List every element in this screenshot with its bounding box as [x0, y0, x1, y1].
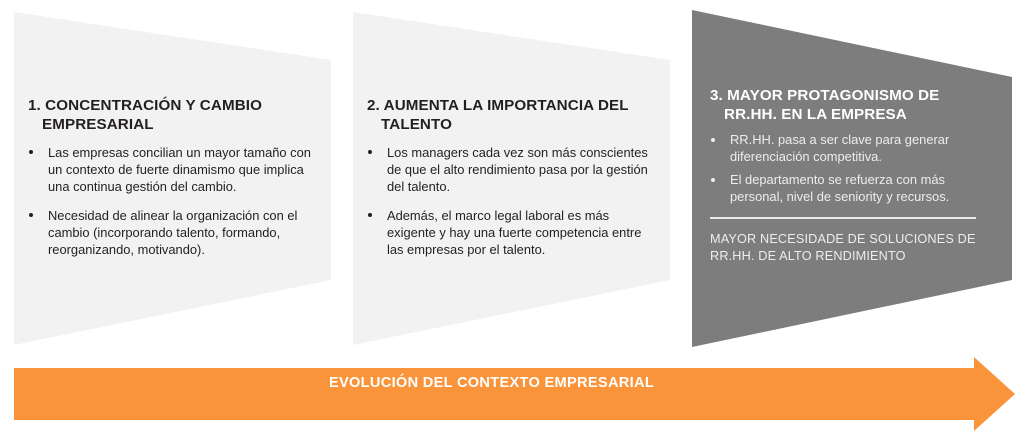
stage-panel-1: 1. CONCENTRACIÓN Y CAMBIO EMPRESARIAL La… [14, 8, 332, 348]
bullet-dot-icon [368, 213, 372, 217]
list-item: El departamento se refuerza con más pers… [710, 172, 996, 205]
panel-2-bullet-list: Los managers cada vez son más consciente… [367, 144, 657, 258]
bullet-dot-icon [29, 150, 33, 154]
panel-1-content: 1. CONCENTRACIÓN Y CAMBIO EMPRESARIAL La… [28, 96, 318, 258]
panel-1-body: 1. CONCENTRACIÓN Y CAMBIO EMPRESARIAL La… [14, 8, 332, 348]
bullet-dot-icon [711, 178, 715, 182]
list-item: Los managers cada vez son más consciente… [367, 144, 657, 196]
bullet-dot-icon [711, 138, 715, 142]
panel-3-divider [710, 217, 976, 219]
list-item: Las empresas concilian un mayor tamaño c… [28, 144, 318, 196]
panel-1-bullet-1: Necesidad de alinear la organización con… [48, 208, 297, 257]
stage-panel-2: 2. AUMENTA LA IMPORTANCIA DEL TALENTO Lo… [353, 8, 671, 348]
panel-3-footnote: MAYOR NECESIDADE DE SOLUCIONES DE RR.HH.… [710, 231, 996, 265]
evolution-arrow-banner: EVOLUCIÓN DEL CONTEXTO EMPRESARIAL [14, 357, 1016, 431]
panel-3-bullet-0: RR.HH. pasa a ser clave para generar dif… [730, 132, 949, 164]
panel-3-bullet-1: El departamento se refuerza con más pers… [730, 172, 949, 204]
panel-1-bullet-0: Las empresas concilian un mayor tamaño c… [48, 145, 311, 194]
panel-3-content: 3. MAYOR PROTAGONISMO DE RR.HH. EN LA EM… [710, 86, 996, 265]
panel-2-title: 2. AUMENTA LA IMPORTANCIA DEL TALENTO [367, 96, 657, 134]
bullet-dot-icon [368, 150, 372, 154]
stage-panel-3: 3. MAYOR PROTAGONISMO DE RR.HH. EN LA EM… [692, 8, 1013, 348]
list-item: Además, el marco legal laboral es más ex… [367, 207, 657, 259]
panel-2-bullet-1: Además, el marco legal laboral es más ex… [387, 208, 641, 257]
panel-1-bullet-list: Las empresas concilian un mayor tamaño c… [28, 144, 318, 258]
list-item: RR.HH. pasa a ser clave para generar dif… [710, 132, 996, 165]
panel-3-title: 3. MAYOR PROTAGONISMO DE RR.HH. EN LA EM… [710, 86, 996, 124]
list-item: Necesidad de alinear la organización con… [28, 207, 318, 259]
panel-3-body: 3. MAYOR PROTAGONISMO DE RR.HH. EN LA EM… [692, 8, 1013, 348]
panel-2-content: 2. AUMENTA LA IMPORTANCIA DEL TALENTO Lo… [367, 96, 657, 258]
arrow-label: EVOLUCIÓN DEL CONTEXTO EMPRESARIAL [14, 357, 969, 409]
panel-1-title: 1. CONCENTRACIÓN Y CAMBIO EMPRESARIAL [28, 96, 318, 134]
diagram-canvas: 1. CONCENTRACIÓN Y CAMBIO EMPRESARIAL La… [0, 0, 1024, 431]
panel-2-body: 2. AUMENTA LA IMPORTANCIA DEL TALENTO Lo… [353, 8, 671, 348]
bullet-dot-icon [29, 213, 33, 217]
panel-3-bullet-list: RR.HH. pasa a ser clave para generar dif… [710, 132, 996, 205]
panel-2-bullet-0: Los managers cada vez son más consciente… [387, 145, 648, 194]
